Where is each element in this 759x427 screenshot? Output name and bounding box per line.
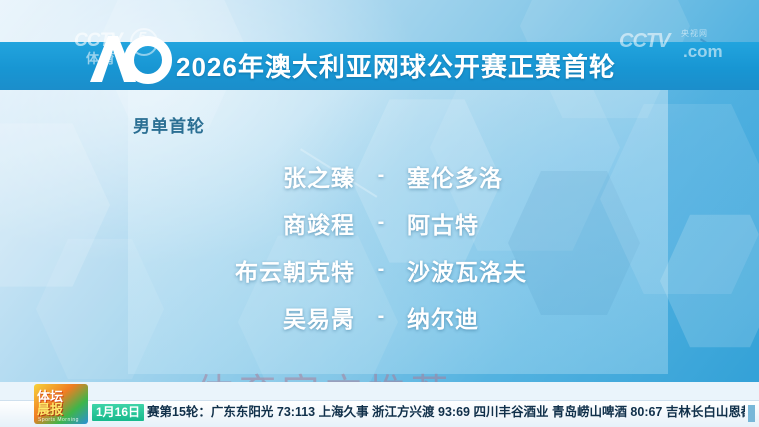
- versus-separator: -: [355, 164, 407, 187]
- match-row: 商竣程 - 阿古特: [128, 199, 668, 246]
- australian-open-logo: AO: [84, 30, 176, 86]
- match-row: 张之臻 - 塞伦多洛: [128, 152, 668, 199]
- match-list: 张之臻 - 塞伦多洛 商竣程 - 阿古特 布云朝克特 - 沙波瓦洛夫 吴易昺 -…: [128, 152, 668, 340]
- player-two-name: 纳尔迪: [407, 300, 617, 334]
- match-row: 布云朝克特 - 沙波瓦洛夫: [128, 246, 668, 293]
- ticker-date: 1月16日: [92, 404, 144, 421]
- cctv-com-watermark: CCTV 央视网 .com: [619, 26, 751, 68]
- page-title: 2026年澳大利亚网球公开赛正赛首轮: [176, 47, 616, 84]
- watermark-com-text: .com: [683, 42, 723, 62]
- versus-separator: -: [355, 211, 407, 234]
- watermark-cn-text: 央视网: [681, 28, 708, 39]
- program-badge-sub: Sports Morning: [38, 417, 79, 423]
- ticker-zone: 体坛 晨报 Sports Morning 1月16日 赛第15轮：广东东阳光 7…: [0, 382, 759, 427]
- player-one-name: 布云朝克特: [179, 253, 355, 287]
- broadcast-screen: 2026年澳大利亚网球公开赛正赛首轮 CCTV 体育 AO CCTV 央视网 .…: [0, 0, 759, 427]
- player-two-name: 阿古特: [407, 206, 617, 240]
- program-badge: 体坛 晨报 Sports Morning: [34, 384, 88, 424]
- player-one-name: 张之臻: [179, 159, 355, 193]
- program-badge-line2: 晨报: [37, 399, 63, 418]
- versus-separator: -: [355, 305, 407, 328]
- player-two-name: 沙波瓦洛夫: [407, 253, 617, 287]
- section-title: 男单首轮: [133, 112, 205, 137]
- ao-logo-icon: [84, 30, 176, 86]
- watermark-cctv-text: CCTV: [619, 30, 669, 53]
- versus-separator: -: [355, 258, 407, 281]
- player-one-name: 吴易昺: [179, 300, 355, 334]
- ticker-cursor-icon: [748, 405, 755, 422]
- match-row: 吴易昺 - 纳尔迪: [128, 293, 668, 340]
- player-one-name: 商竣程: [179, 206, 355, 240]
- player-two-name: 塞伦多洛: [407, 159, 617, 193]
- ticker-text: 赛第15轮：广东东阳光 73:113 上海久事 浙江方兴渡 93:69 四川丰谷…: [147, 403, 745, 422]
